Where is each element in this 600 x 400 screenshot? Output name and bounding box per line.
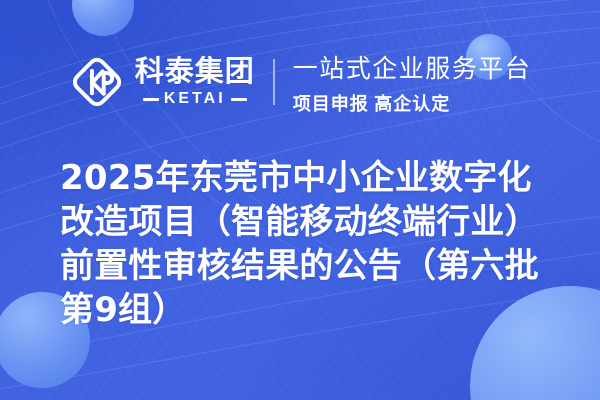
brand-name-en-row: KETAI: [143, 91, 247, 107]
dash-right-icon: [231, 98, 247, 101]
brand-name-cn: 科泰集团: [135, 57, 255, 86]
brand-text: 科泰集团 KETAI: [135, 57, 255, 107]
brand-lockup: 科泰集团 KETAI: [69, 54, 255, 110]
brand-name-en: KETAI: [164, 91, 226, 107]
tagline-block: 一站式企业服务平台 项目申报 高企认定: [293, 49, 532, 116]
banner-header: 科泰集团 KETAI 一站式企业服务平台 项目申报 高企认定: [0, 46, 600, 118]
vertical-divider: [273, 59, 275, 105]
ketai-diamond-kt-logo-icon: [69, 54, 125, 110]
page-title: 2025年东莞市中小企业数字化改造项目（智能移动终端行业）前置性审核结果的公告（…: [60, 156, 556, 332]
announcement-banner: 科泰集团 KETAI 一站式企业服务平台 项目申报 高企认定 2025年东莞市中…: [0, 0, 600, 400]
dash-left-icon: [143, 98, 159, 101]
tagline-secondary: 项目申报 高企认定: [293, 90, 532, 116]
tagline-primary: 一站式企业服务平台: [293, 49, 532, 85]
